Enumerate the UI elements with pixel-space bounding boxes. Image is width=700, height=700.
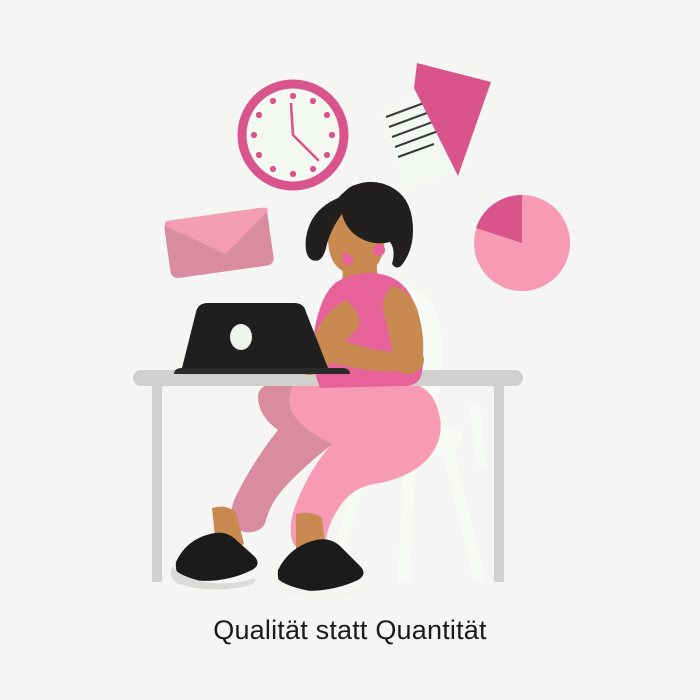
caption-text: Qualität statt Quantität [0,612,700,648]
scene-illustration [0,0,700,700]
desk-leg-right [494,382,504,582]
wall-clock [242,84,344,186]
laptop-logo [230,324,252,350]
laptop-lid [182,303,328,368]
illustration-canvas: Qualität statt Quantität [0,0,700,700]
desk-leg-left [152,382,162,582]
earring-upper [373,244,385,256]
hair-bun [340,184,382,226]
laptop-base [174,368,350,374]
pie-chart [474,195,570,291]
